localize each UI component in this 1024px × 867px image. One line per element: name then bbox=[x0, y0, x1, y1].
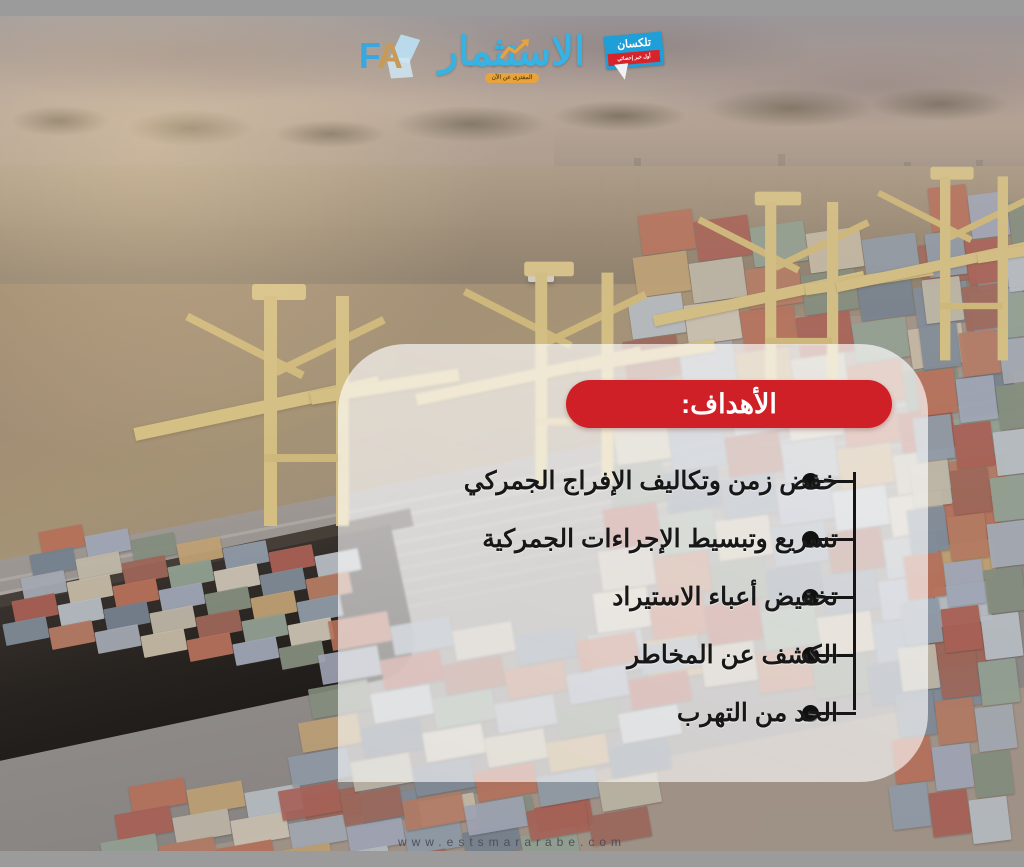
shipping-container bbox=[983, 566, 1024, 614]
poster-canvas: تلكسان أول خبر إحصائي الاستثمار المفترى … bbox=[0, 0, 1024, 867]
page-title: الأهداف: bbox=[681, 391, 777, 418]
objective-label: الكشف عن المخاطر bbox=[627, 643, 838, 668]
objectives-card: الأهداف: خفض زمن وتكاليف الإفراج الجمركي… bbox=[338, 344, 928, 782]
growth-arrow-icon bbox=[500, 38, 532, 60]
objective-row: الكشف عن المخاطر bbox=[348, 626, 900, 684]
objective-label: تخفيض أعباء الاستيراد bbox=[612, 585, 838, 610]
shipping-container bbox=[949, 467, 992, 515]
objective-label: خفض زمن وتكاليف الإفراج الجمركي bbox=[464, 469, 838, 494]
objectives-list: خفض زمن وتكاليف الإفراج الجمركيتسريع وتب… bbox=[348, 452, 900, 742]
objective-row: الحد من التهرب bbox=[348, 684, 900, 742]
shipping-container bbox=[928, 789, 971, 837]
brand-logo-row: تلكسان أول خبر إحصائي الاستثمار المفترى … bbox=[0, 26, 1024, 88]
shipping-container bbox=[952, 421, 995, 469]
gantry-crane bbox=[857, 167, 1023, 333]
shipping-container bbox=[940, 605, 983, 653]
shipping-container bbox=[955, 375, 998, 423]
shipping-container bbox=[958, 329, 1001, 377]
shipping-container bbox=[931, 743, 974, 791]
shipping-container bbox=[977, 658, 1020, 706]
shipping-container bbox=[937, 651, 980, 699]
website-url: www.estsmararabe.com bbox=[0, 835, 1024, 849]
shipping-container bbox=[992, 428, 1024, 476]
objective-row: تخفيض أعباء الاستيراد bbox=[348, 568, 900, 626]
bottom-frame-bar bbox=[0, 851, 1024, 867]
fa-letter-a: A bbox=[377, 38, 403, 74]
shipping-container bbox=[888, 782, 931, 830]
estsmar-tagline: المفترى عن الآن bbox=[485, 73, 540, 83]
bubble-tail-icon bbox=[614, 63, 630, 80]
objective-row: تسريع وتبسيط الإجراءات الجمركية bbox=[348, 510, 900, 568]
fa-logo[interactable]: F A bbox=[357, 32, 419, 82]
objective-label: تسريع وتبسيط الإجراءات الجمركية bbox=[482, 527, 838, 552]
shipping-container bbox=[995, 382, 1024, 430]
shipping-container bbox=[980, 612, 1023, 660]
shipping-container bbox=[946, 513, 989, 561]
shipping-container bbox=[943, 559, 986, 607]
shipping-container bbox=[934, 697, 977, 745]
shipping-container bbox=[986, 520, 1024, 568]
top-frame-bar bbox=[0, 0, 1024, 16]
objective-label: الحد من التهرب bbox=[677, 701, 838, 726]
card-title-pill: الأهداف: bbox=[566, 380, 892, 428]
shipping-container bbox=[974, 704, 1017, 752]
estsmar-logo[interactable]: الاستثمار المفترى عن الآن bbox=[439, 30, 585, 84]
objective-row: خفض زمن وتكاليف الإفراج الجمركي bbox=[348, 452, 900, 510]
talksan-logo[interactable]: تلكسان أول خبر إحصائي bbox=[605, 32, 667, 82]
shipping-container bbox=[971, 750, 1014, 798]
shipping-container bbox=[989, 474, 1024, 522]
